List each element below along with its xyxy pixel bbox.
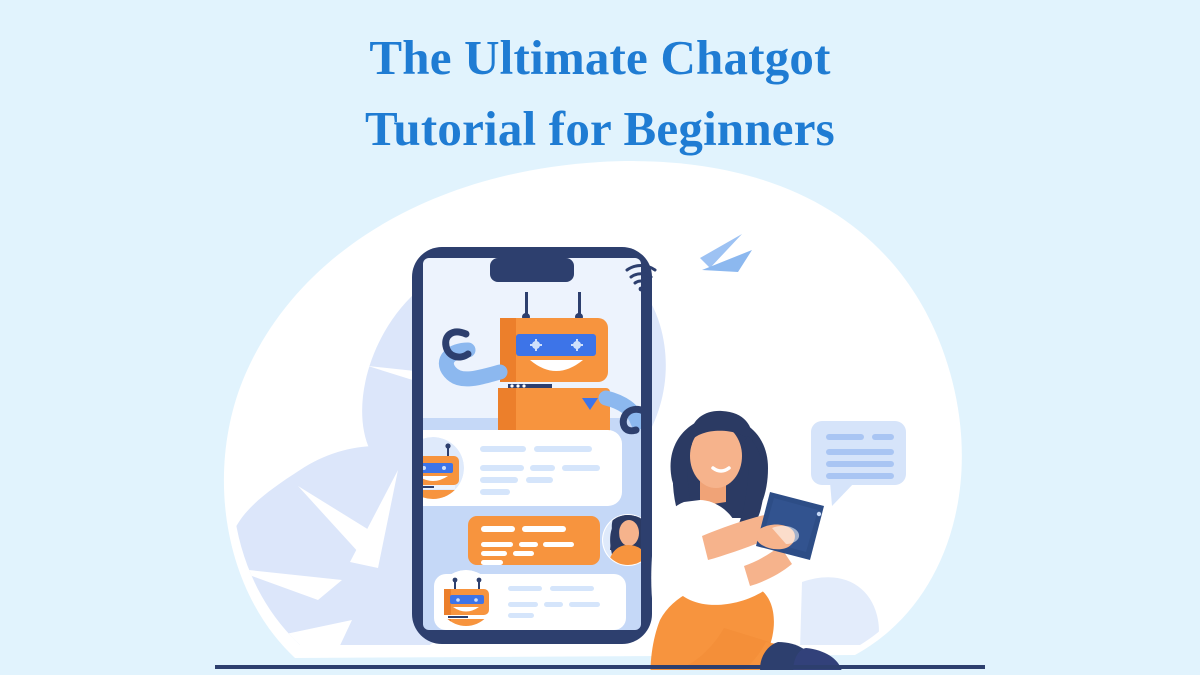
wifi-dot-icon (639, 287, 644, 292)
chat-message-bot-2[interactable] (434, 570, 626, 639)
ground-line (215, 665, 985, 669)
banner-root: The Ultimate Chatgot Tutorial for Beginn… (0, 0, 1200, 675)
chat-message-bot-1[interactable] (392, 430, 622, 512)
smartphone-mockup[interactable] (392, 247, 655, 644)
illustration-stage (0, 150, 1200, 675)
page-title: The Ultimate Chatgot Tutorial for Beginn… (0, 22, 1200, 164)
title-line-1: The Ultimate Chatgot (0, 22, 1200, 93)
title-line-2: Tutorial for Beginners (0, 93, 1200, 164)
phone-notch (490, 258, 574, 282)
